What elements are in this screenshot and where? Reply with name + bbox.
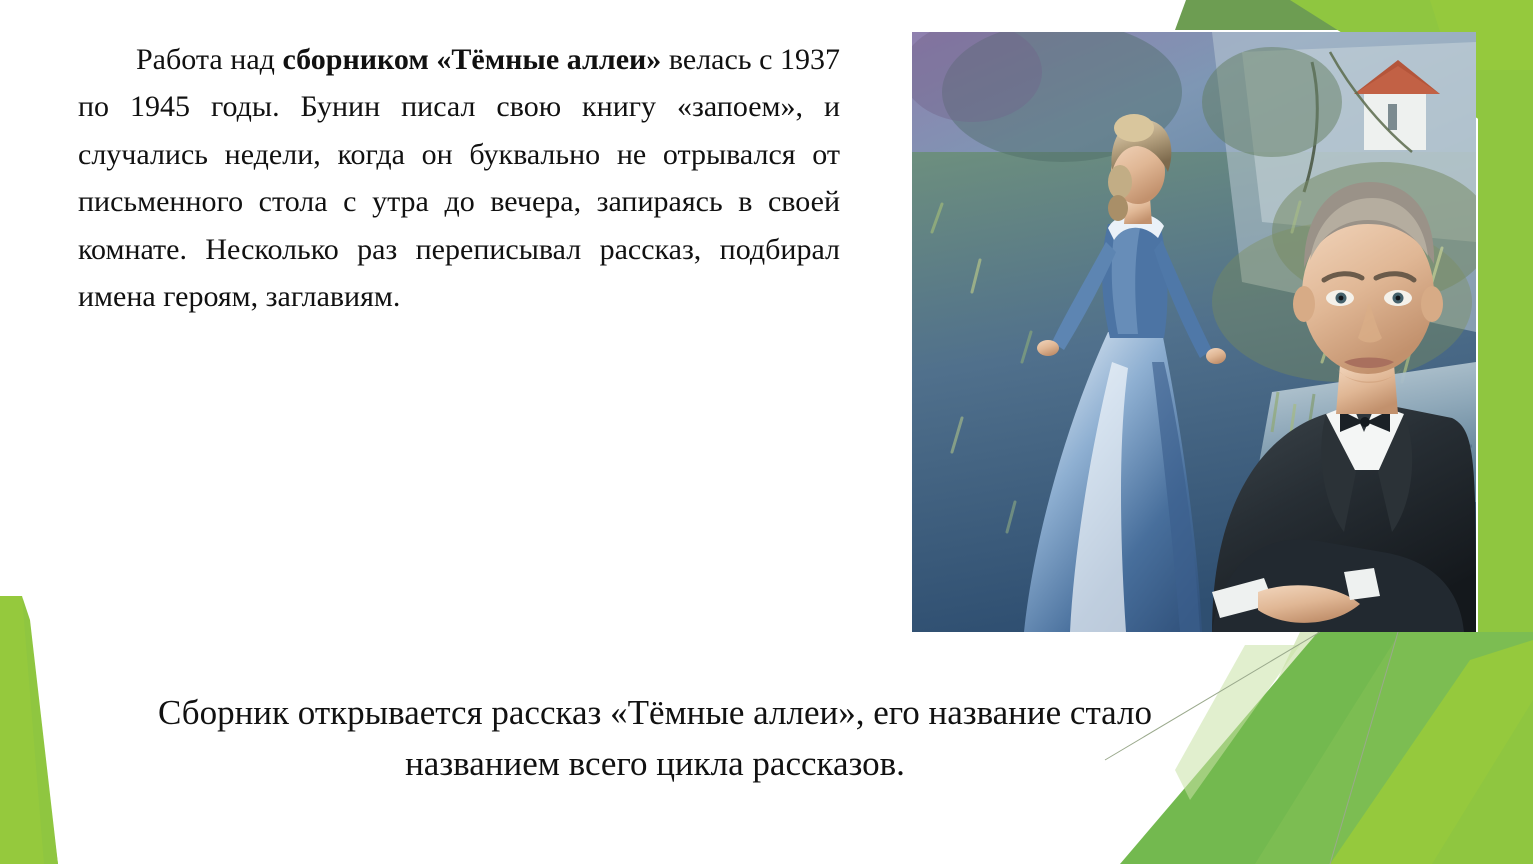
body-paragraph: Работа над сборником «Тёмные аллеи» вела… [78, 36, 840, 320]
bunin-illustration-artwork [912, 32, 1476, 632]
bottom-left-green-wedge-icon [0, 596, 58, 864]
body-rest-text: велась с 1937 по 1945 годы. Бунин писал … [78, 43, 840, 313]
bright-green-wedge-2-icon [1432, 700, 1533, 864]
bright-green-wedge-icon [1330, 640, 1533, 864]
soft-green-highlight-icon [1175, 645, 1300, 800]
mid-green-wedge-2-icon [1255, 632, 1533, 864]
bright-green-column-icon [1478, 0, 1533, 700]
bottom-left-green-wedge-inner-icon [22, 596, 58, 864]
hairline-2-icon [1330, 632, 1398, 864]
body-lead-text: Работа над [136, 43, 283, 76]
bunin-illustration [912, 32, 1476, 632]
slide-caption: Сборник открывается рассказ «Тёмные алле… [120, 688, 1190, 790]
body-bold-title: сборником «Тёмные аллеи» [283, 43, 662, 76]
pale-green-wedge-icon [1190, 632, 1533, 864]
presentation-slide: Работа над сборником «Тёмные аллеи» вела… [0, 0, 1533, 864]
dark-green-band-icon [1175, 0, 1533, 30]
